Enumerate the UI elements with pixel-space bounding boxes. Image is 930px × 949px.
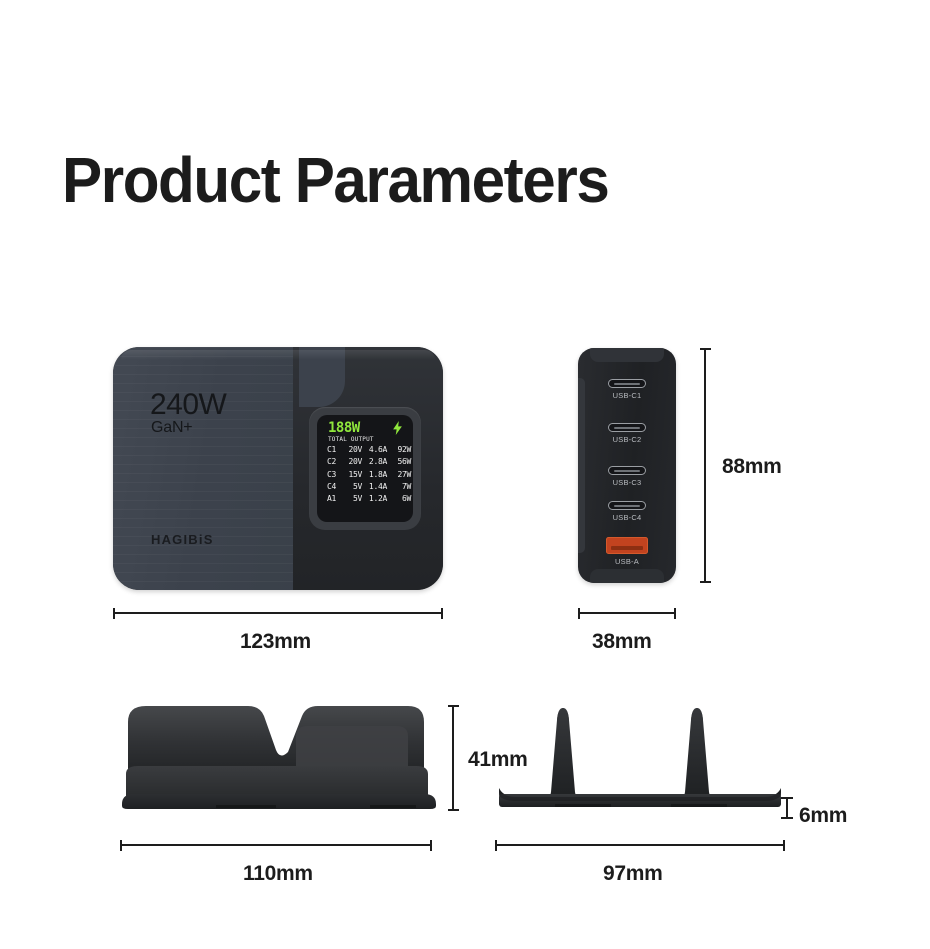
- display-port-rows: C1 20V 4.6A 92W C2 20V 2.8A 56W C3 15V: [324, 445, 406, 505]
- port-label: USB-C4: [578, 513, 676, 522]
- total-output-value: 188W: [328, 421, 360, 435]
- charger-technology-label: GaN+: [151, 419, 192, 437]
- charger-wattage-label: 240W: [150, 388, 226, 422]
- row-amps: 1.8A: [364, 470, 389, 481]
- row-volts: 5V: [342, 482, 364, 493]
- charger-front-view: 240W GaN+ HAGIBiS 188W TOTAL OUTPUT C1 2…: [113, 347, 443, 590]
- charger-side-bottom-lip: [590, 569, 664, 583]
- port-label: USB-A: [578, 557, 676, 566]
- row-watts: 56W: [389, 457, 411, 468]
- dimension-label-charger-depth: 38mm: [592, 630, 652, 654]
- display-row: C4 5V 1.4A 7W: [324, 482, 406, 493]
- port-label: USB-C3: [578, 478, 676, 487]
- dimension-line-dock-height: [448, 705, 458, 811]
- total-output-label: TOTAL OUTPUT: [328, 437, 406, 443]
- row-volts: 20V: [342, 457, 364, 468]
- usb-a-port-icon: [606, 537, 648, 554]
- port-usb-a: USB-A: [578, 537, 676, 566]
- dock-front-view: [495, 700, 785, 812]
- usb-c-port-icon: [608, 379, 646, 388]
- lightning-bolt-icon: [392, 421, 403, 435]
- dock-side-view: [120, 700, 438, 812]
- dock-side-illustration: [120, 700, 438, 812]
- display-row: C3 15V 1.8A 27W: [324, 470, 406, 481]
- dimension-line-dock-width: [120, 840, 432, 850]
- dimension-label-base-thickness: 6mm: [799, 804, 847, 828]
- usb-c-port-icon: [608, 423, 646, 432]
- row-watts: 6W: [389, 494, 411, 505]
- usb-c-port-icon: [608, 466, 646, 475]
- row-amps: 1.4A: [364, 482, 389, 493]
- row-watts: 92W: [389, 445, 411, 456]
- product-parameters-page: Product Parameters 240W GaN+ HAGIBiS 188…: [0, 0, 930, 949]
- charger-side-view: USB-C1 USB-C2 USB-C3 USB-C4 USB-A: [578, 348, 676, 583]
- charger-side-top-lip: [590, 348, 664, 362]
- port-usb-c3: USB-C3: [578, 466, 676, 487]
- charger-display-screen: 188W TOTAL OUTPUT C1 20V 4.6A 92W C2: [317, 415, 413, 522]
- display-row: C2 20V 2.8A 56W: [324, 457, 406, 468]
- port-label: USB-C1: [578, 391, 676, 400]
- dock-front-illustration: [495, 700, 785, 812]
- port-usb-c2: USB-C2: [578, 423, 676, 444]
- row-watts: 7W: [389, 482, 411, 493]
- row-port: A1: [327, 494, 342, 505]
- display-header-row: 188W: [324, 421, 406, 435]
- dimension-label-charger-height: 88mm: [722, 455, 782, 479]
- row-port: C3: [327, 470, 342, 481]
- dimension-line-charger-depth: [578, 608, 676, 618]
- dimension-marker-base-thickness: [781, 797, 793, 819]
- port-usb-c1: USB-C1: [578, 379, 676, 400]
- dimension-line-charger-height: [700, 348, 710, 583]
- row-volts: 20V: [342, 445, 364, 456]
- display-row: C1 20V 4.6A 92W: [324, 445, 406, 456]
- dimension-line-charger-width: [113, 608, 443, 618]
- display-row: A1 5V 1.2A 6W: [324, 494, 406, 505]
- row-volts: 15V: [342, 470, 364, 481]
- dimension-label-charger-width: 123mm: [240, 630, 311, 654]
- usb-c-port-icon: [608, 501, 646, 510]
- dimension-line-dock-front-width: [495, 840, 785, 850]
- row-port: C1: [327, 445, 342, 456]
- port-label: USB-C2: [578, 435, 676, 444]
- charger-display-bezel: 188W TOTAL OUTPUT C1 20V 4.6A 92W C2: [309, 407, 421, 530]
- port-usb-c4: USB-C4: [578, 501, 676, 522]
- dimension-label-dock-front-width: 97mm: [603, 862, 663, 886]
- charger-front-highlight: [121, 350, 435, 360]
- page-title: Product Parameters: [62, 143, 608, 217]
- row-amps: 1.2A: [364, 494, 389, 505]
- row-amps: 2.8A: [364, 457, 389, 468]
- charger-brand-logo: HAGIBiS: [151, 532, 214, 547]
- row-amps: 4.6A: [364, 445, 389, 456]
- row-port: C2: [327, 457, 342, 468]
- row-watts: 27W: [389, 470, 411, 481]
- row-port: C4: [327, 482, 342, 493]
- row-volts: 5V: [342, 494, 364, 505]
- dimension-label-dock-width: 110mm: [243, 862, 313, 886]
